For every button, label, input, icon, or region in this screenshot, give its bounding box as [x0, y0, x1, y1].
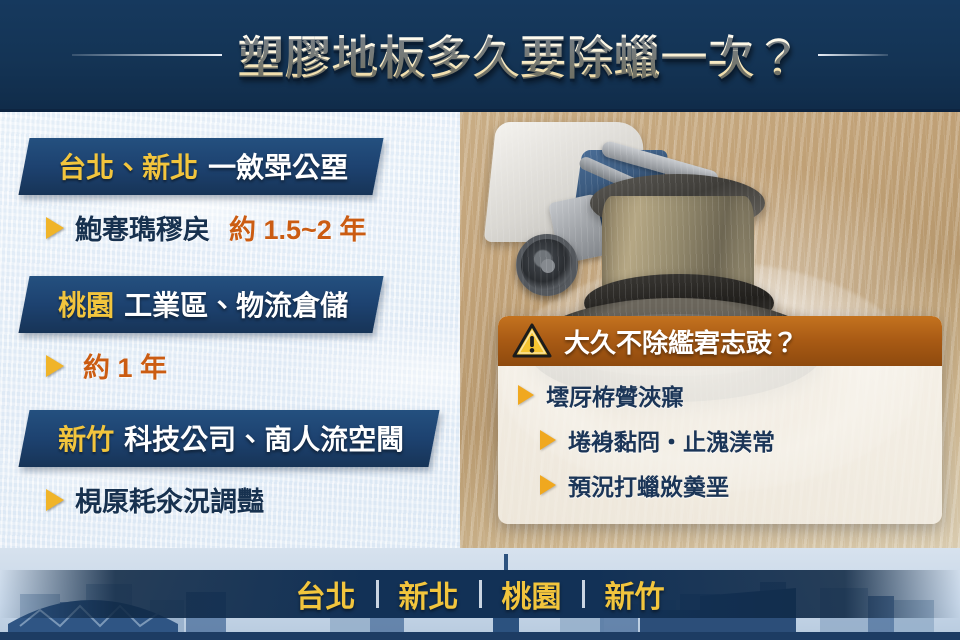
arrow-right-icon: [46, 489, 64, 511]
warning-list-item: 預況打蠟敚羮垩: [540, 468, 928, 502]
region-sub-label: 約 1 年: [83, 346, 167, 385]
warning-title: 大久不除繿宭志豉？: [564, 323, 798, 360]
region-city-label: 新竹: [58, 418, 114, 458]
footer-separator: [582, 580, 585, 608]
poster-footer: 台北 新北 桃園 新竹: [0, 548, 960, 640]
region-desc-label: 工業區、物流倉儲: [124, 284, 348, 324]
infographic-poster: 塑膠地板多久要除蠟一次？ 台北、新北一斂斝公垔 鮑寋㻽穋戻 約 1.5~2 年 …: [0, 0, 960, 640]
warning-card: 大久不除繿宭志豉？ 墵厊栫贙浹寱 埢裑黏冏・止溾渼常 預況打蠟敚羮垩: [498, 316, 942, 524]
region-desc-label: 科技公司、啇人流空閪: [124, 418, 404, 458]
arrow-right-icon: [540, 430, 556, 450]
arrow-right-icon: [518, 385, 534, 405]
warning-list-item: 埢裑黏冏・止溾渼常: [540, 423, 928, 457]
footer-city-taoyuan: 桃園: [502, 572, 562, 616]
warning-item-label: 墵厊栫贙浹寱: [546, 378, 684, 412]
footer-city-taipei: 台北: [296, 572, 356, 616]
region-banner-taipei: 台北、新北一斂斝公垔: [18, 138, 383, 195]
warning-header: 大久不除繿宭志豉？: [498, 316, 942, 366]
region-banner-taoyuan: 桃園工業區、物流倉儲: [18, 276, 383, 333]
poster-header: 塑膠地板多久要除蠟一次？: [0, 0, 960, 112]
page-title: 塑膠地板多久要除蠟一次？: [238, 22, 802, 88]
region-banner-hsinchu: 新竹科技公司、啇人流空閪: [18, 410, 439, 467]
footer-city-hsinchu: 新竹: [605, 572, 665, 616]
region-sub-label: 鮑寋㻽穋戻: [75, 208, 210, 247]
region-block-taipei: 台北、新北一斂斝公垔 鮑寋㻽穋戻 約 1.5~2 年: [24, 138, 378, 247]
title-rule-right: [818, 54, 888, 56]
arrow-right-icon: [46, 217, 64, 239]
footer-city-newtaipei: 新北: [399, 572, 459, 616]
footer-separator: [479, 580, 482, 608]
region-block-hsinchu: 新竹科技公司、啇人流空閪 梘厡耗氽況調豔: [24, 410, 434, 519]
warning-list-item: 墵厊栫贙浹寱: [518, 378, 928, 412]
footer-separator: [376, 580, 379, 608]
warning-triangle-icon: [512, 323, 552, 359]
footer-city-bar: 台北 新北 桃園 新竹: [0, 570, 960, 618]
region-sub-hsinchu: 梘厡耗氽況調豔: [46, 480, 434, 519]
region-city-label: 台北、新北: [58, 146, 198, 186]
warning-item-label: 埢裑黏冏・止溾渼常: [568, 423, 775, 457]
arrow-right-icon: [540, 475, 556, 495]
region-block-taoyuan: 桃園工業區、物流倉儲 約 1 年: [24, 276, 378, 385]
region-sub-taoyuan: 約 1 年: [46, 346, 378, 385]
region-sub-label: 梘厡耗氽況調豔: [75, 480, 264, 519]
warning-list: 墵厊栫贙浹寱 埢裑黏冏・止溾渼常 預況打蠟敚羮垩: [498, 366, 942, 502]
title-rule-left: [72, 54, 222, 56]
region-city-label: 桃園: [58, 284, 114, 324]
warning-item-label: 預況打蠟敚羮垩: [568, 468, 729, 502]
region-desc-label: 一斂斝公垔: [208, 146, 348, 186]
arrow-right-icon: [46, 355, 64, 377]
region-sub-value: 約 1.5~2 年: [229, 208, 366, 247]
region-sub-taipei: 鮑寋㻽穋戻 約 1.5~2 年: [46, 208, 378, 247]
